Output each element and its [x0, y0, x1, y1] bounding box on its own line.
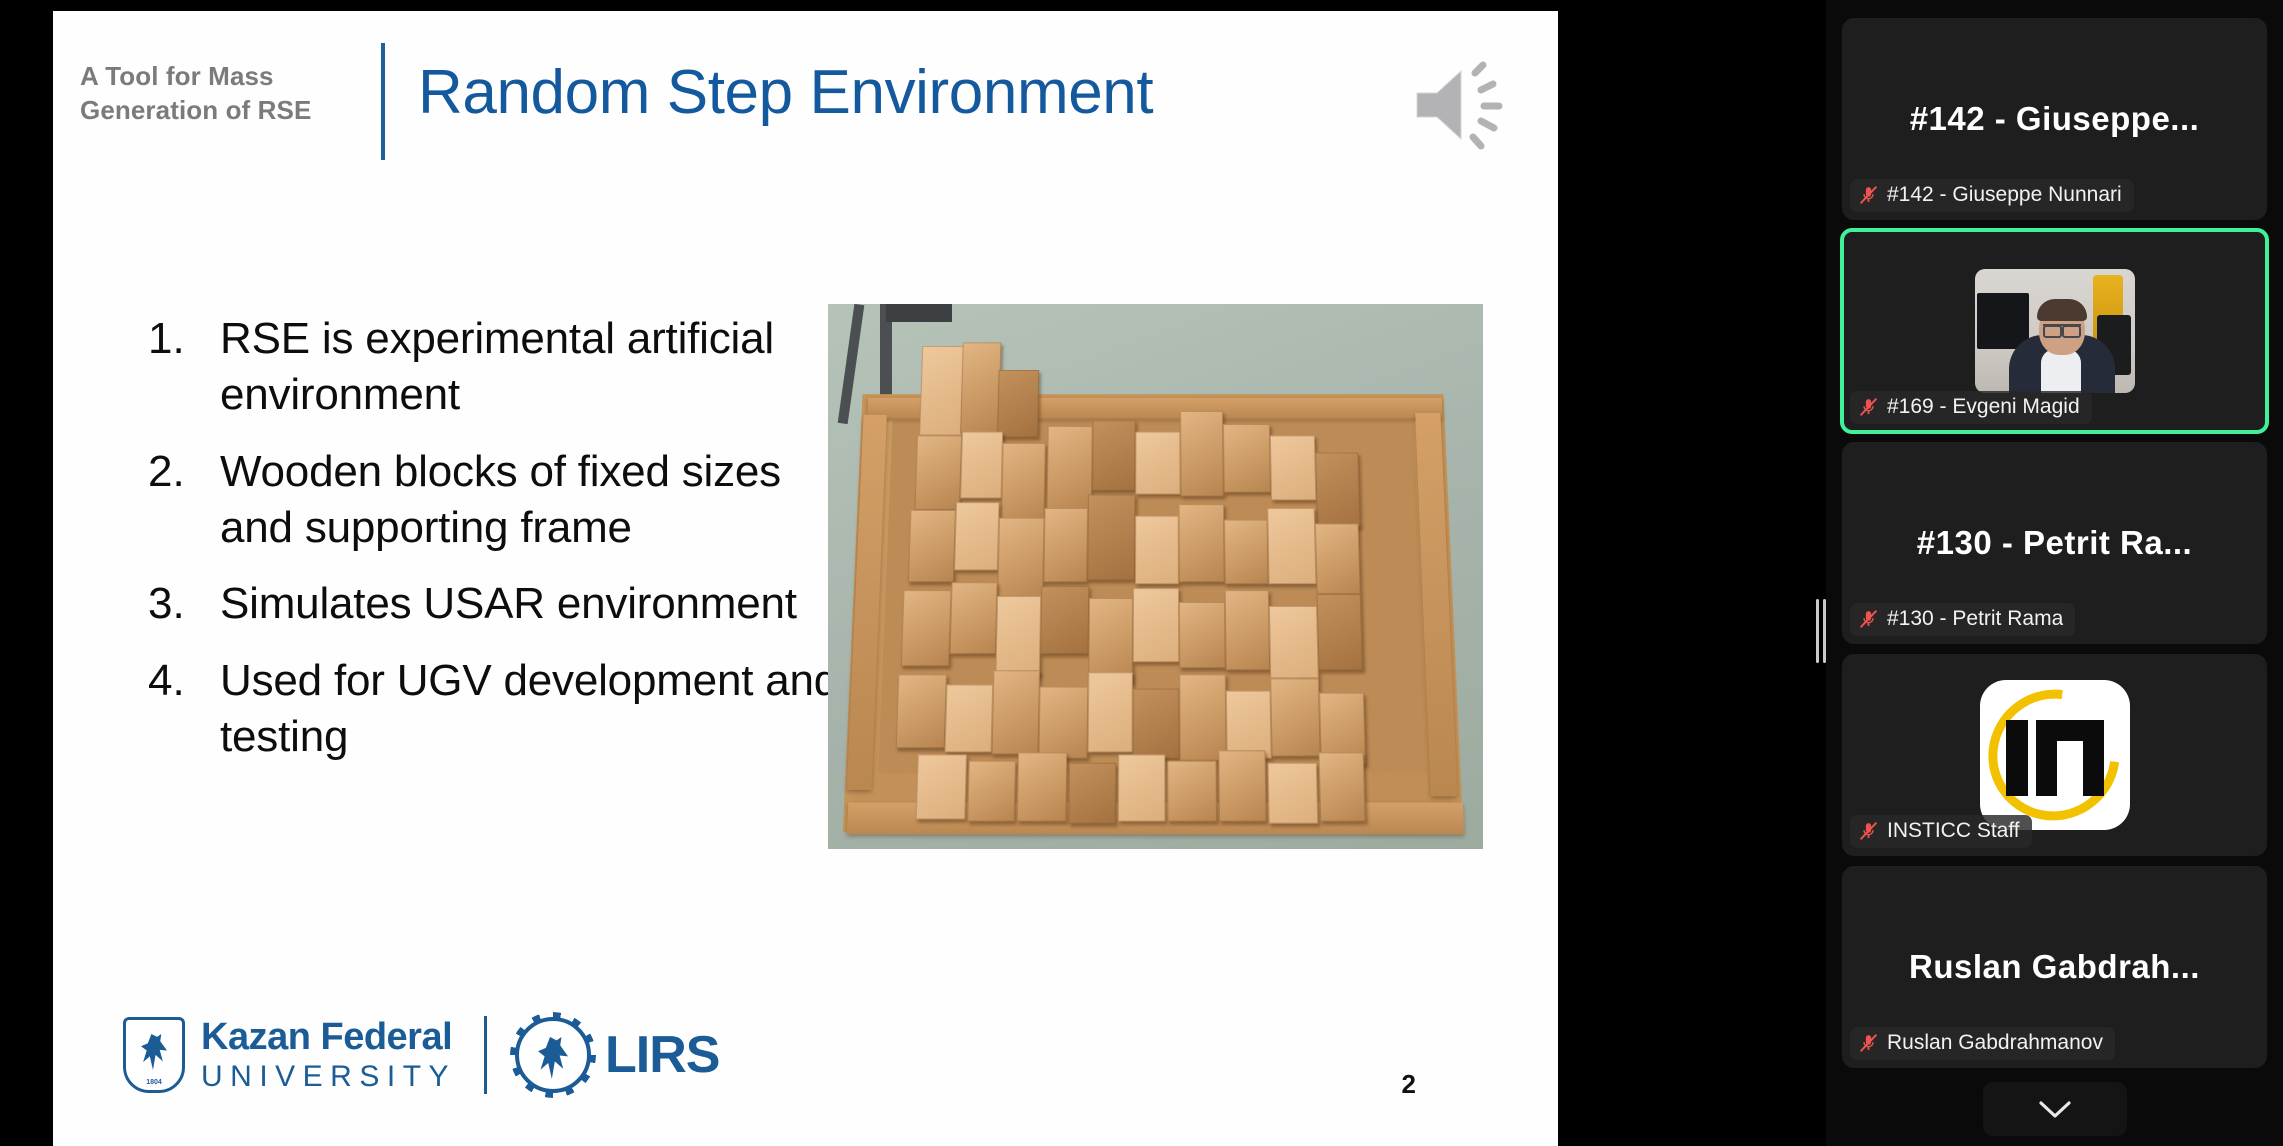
- participant-name-badge: #130 - Petrit Rama: [1850, 603, 2075, 636]
- photo-block: [1179, 504, 1225, 582]
- slide-bullet-list: 1. RSE is experimental artificial enviro…: [148, 311, 848, 785]
- list-item-text: Wooden blocks of fixed sizes and support…: [220, 444, 848, 557]
- photo-block: [1017, 752, 1067, 821]
- photo-block: [1270, 435, 1316, 500]
- photo-block: [914, 435, 962, 509]
- chevron-down-icon: [2035, 1097, 2075, 1121]
- participant-name: #142 - Giuseppe Nunnari: [1887, 183, 2122, 207]
- photo-block: [1225, 590, 1270, 670]
- photo-block: [995, 596, 1041, 676]
- list-item-text: RSE is experimental artificial environme…: [220, 311, 848, 424]
- photo-block: [1088, 598, 1133, 682]
- photo-block: [945, 684, 994, 752]
- participant-display-name-large: #130 - Petrit Ra...: [1909, 524, 2200, 562]
- photo-block: [1167, 761, 1217, 822]
- kfu-line-1: Kazan Federal: [201, 1018, 456, 1056]
- photo-block: [967, 761, 1016, 822]
- photo-block: [1226, 691, 1272, 759]
- photo-block: [1040, 586, 1089, 654]
- list-item: 4. Used for UGV development and testing: [148, 653, 848, 766]
- photo-block: [1224, 520, 1269, 585]
- insticc-n-letter: [2036, 720, 2104, 796]
- participant-tile[interactable]: #142 - Giuseppe... #142 - Giuseppe Nunna…: [1842, 18, 2267, 220]
- photo-block: [1092, 420, 1135, 490]
- photo-block: [916, 754, 967, 819]
- microphone-muted-icon: [1858, 819, 1879, 843]
- photo-block: [1315, 452, 1360, 527]
- list-item: 3. Simulates USAR environment: [148, 576, 848, 632]
- list-item: 2. Wooden blocks of fixed sizes and supp…: [148, 444, 848, 557]
- photo-block: [991, 670, 1039, 754]
- microphone-muted-icon: [1858, 183, 1879, 207]
- photo-block: [1047, 426, 1093, 510]
- photo-block: [1068, 763, 1116, 824]
- photo-block: [901, 590, 952, 666]
- presentation-slide[interactable]: A Tool for Mass Generation of RSE Random…: [53, 11, 1558, 1146]
- photo-block: [1133, 689, 1180, 759]
- list-item-number: 3.: [148, 576, 220, 632]
- microphone-muted-icon: [1858, 1031, 1879, 1055]
- video-person-glasses: [2043, 324, 2081, 333]
- lirs-wordmark: LIRS: [605, 1025, 719, 1085]
- slide-header: A Tool for Mass Generation of RSE Random…: [53, 11, 1558, 191]
- participant-name-badge: Ruslan Gabdrahmanov: [1850, 1027, 2115, 1060]
- photo-block: [1001, 443, 1046, 522]
- photo-block: [1087, 495, 1135, 581]
- photo-block: [1315, 523, 1361, 594]
- photo-block: [1319, 752, 1366, 821]
- list-item-text: Simulates USAR environment: [220, 576, 797, 632]
- participant-name: #169 - Evgeni Magid: [1887, 395, 2080, 419]
- lirs-gear-icon: [515, 1017, 591, 1093]
- crest-year: 1804: [126, 1079, 182, 1086]
- photo-cart-base: [886, 304, 952, 322]
- participant-name: #130 - Petrit Rama: [1887, 607, 2063, 631]
- participant-tile[interactable]: INSTICC Staff: [1842, 654, 2267, 856]
- photo-block: [1133, 588, 1179, 662]
- participant-name: INSTICC Staff: [1887, 819, 2020, 843]
- participant-tile[interactable]: #130 - Petrit Ra... #130 - Petrit Rama: [1842, 442, 2267, 644]
- header-divider-rule: [381, 43, 385, 160]
- photo-block: [1269, 606, 1319, 678]
- photo-block: [1223, 424, 1271, 492]
- participant-name-badge: #169 - Evgeni Magid: [1850, 391, 2092, 424]
- slide-kicker: A Tool for Mass Generation of RSE: [80, 59, 335, 128]
- participant-tile[interactable]: Ruslan Gabdrah... Ruslan Gabdrahmanov: [1842, 866, 2267, 1068]
- list-item-number: 2.: [148, 444, 220, 557]
- kazan-federal-university-crest-icon: 1804: [123, 1017, 185, 1093]
- insticc-avatar: [1980, 680, 2130, 830]
- list-item-number: 4.: [148, 653, 220, 766]
- microphone-muted-icon: [1858, 607, 1879, 631]
- participant-video-thumbnail: [1975, 269, 2135, 393]
- photo-block: [1180, 411, 1224, 496]
- shared-screen-stage[interactable]: A Tool for Mass Generation of RSE Random…: [0, 0, 1826, 1146]
- photo-block: [1038, 687, 1088, 759]
- slide-title: Random Step Environment: [418, 57, 1153, 128]
- photo-block: [950, 582, 998, 654]
- video-person-shirt: [2041, 349, 2081, 393]
- photo-block: [997, 518, 1044, 600]
- participant-display-name-large: Ruslan Gabdrah...: [1901, 948, 2208, 986]
- participant-display-name-large: #142 - Giuseppe...: [1902, 100, 2208, 138]
- kazan-federal-university-wordmark: Kazan Federal UNIVERSITY: [201, 1018, 456, 1092]
- speaker-audio-icon[interactable]: [1409, 59, 1519, 151]
- photo-wooden-frame: [843, 394, 1463, 832]
- photo-block: [960, 432, 1003, 499]
- photo-block: [919, 346, 965, 435]
- photo-block: [1135, 516, 1179, 584]
- handle-bar: [1816, 599, 1819, 663]
- participant-name-badge: #142 - Giuseppe Nunnari: [1850, 179, 2134, 212]
- photo-block: [1218, 750, 1266, 821]
- list-item-text: Used for UGV development and testing: [220, 653, 848, 766]
- list-item: 1. RSE is experimental artificial enviro…: [148, 311, 848, 424]
- photo-block: [1267, 508, 1316, 584]
- scroll-down-button[interactable]: [1983, 1082, 2127, 1136]
- photo-block: [896, 674, 947, 748]
- photo-block: [1179, 602, 1226, 668]
- photo-block: [1088, 672, 1133, 752]
- photo-block: [1179, 674, 1226, 760]
- slide-footer-logos: 1804 Kazan Federal UNIVERSITY LIRS: [123, 1016, 719, 1094]
- insticc-i-letter: [2006, 720, 2028, 796]
- photo-block: [1317, 594, 1363, 670]
- photo-block: [1118, 754, 1165, 821]
- video-bg-monitor: [1977, 293, 2029, 349]
- video-person-hair: [2037, 299, 2087, 321]
- photo-block: [997, 370, 1039, 437]
- photo-block: [908, 510, 956, 582]
- photo-block: [1268, 763, 1319, 824]
- photo-block: [960, 342, 1001, 433]
- photo-block: [954, 502, 999, 570]
- photo-block: [1135, 432, 1180, 495]
- participant-sidebar[interactable]: #142 - Giuseppe... #142 - Giuseppe Nunna…: [1826, 0, 2283, 1146]
- participant-tile-active[interactable]: #169 - Evgeni Magid: [1842, 230, 2267, 432]
- footer-logo-divider: [484, 1016, 487, 1094]
- microphone-muted-icon: [1858, 395, 1879, 419]
- photo-block: [1270, 678, 1320, 756]
- slide-page-number: 2: [1402, 1069, 1416, 1100]
- rse-photo: [828, 304, 1483, 849]
- participant-name-badge: INSTICC Staff: [1850, 815, 2032, 848]
- participant-name: Ruslan Gabdrahmanov: [1887, 1031, 2103, 1055]
- list-item-number: 1.: [148, 311, 220, 424]
- kfu-line-2: UNIVERSITY: [201, 1062, 456, 1092]
- photo-block: [1043, 508, 1088, 582]
